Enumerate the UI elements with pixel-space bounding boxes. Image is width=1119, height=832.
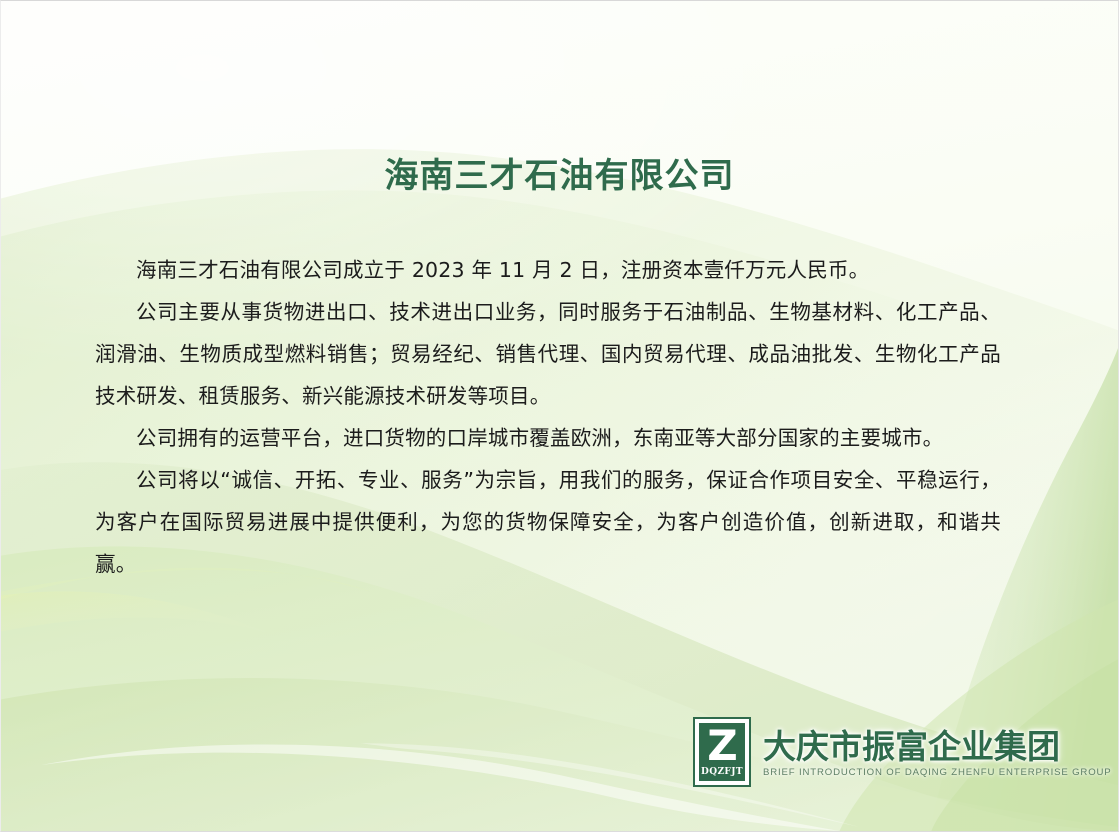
logo-mark-icon: Z DQZFJT	[693, 717, 751, 787]
body-content: 海南三才石油有限公司成立于 2023 年 11 月 2 日，注册资本壹仟万元人民…	[95, 249, 1001, 585]
logo-abbreviation: DQZFJT	[701, 767, 743, 778]
logo-letter-z: Z	[707, 725, 736, 767]
paragraph-3: 公司拥有的运营平台，进口货物的口岸城市覆盖欧洲，东南亚等大部分国家的主要城市。	[95, 417, 1001, 459]
logo-tagline: BRIEF INTRODUCTION OF DAQING ZHENFU ENTE…	[763, 766, 1112, 780]
page-title-block: 海南三才石油有限公司	[1, 156, 1118, 197]
company-logo: Z DQZFJT 大庆市振富企业集团 BRIEF INTRODUCTION OF…	[693, 717, 1112, 787]
paragraph-2: 公司主要从事货物进出口、技术进出口业务，同时服务于石油制品、生物基材料、化工产品…	[95, 291, 1001, 417]
page-title: 海南三才石油有限公司	[385, 156, 735, 197]
slide-canvas: 海南三才石油有限公司 海南三才石油有限公司成立于 2023 年 11 月 2 日…	[0, 0, 1119, 832]
logo-text-block: 大庆市振富企业集团 BRIEF INTRODUCTION OF DAQING Z…	[763, 717, 1112, 780]
paragraph-1: 海南三才石油有限公司成立于 2023 年 11 月 2 日，注册资本壹仟万元人民…	[95, 249, 1001, 291]
logo-mark-inner: Z DQZFJT	[699, 723, 745, 781]
logo-company-name: 大庆市振富企业集团	[763, 729, 1112, 765]
paragraph-4: 公司将以“诚信、开拓、专业、服务”为宗旨，用我们的服务，保证合作项目安全、平稳运…	[95, 459, 1001, 585]
